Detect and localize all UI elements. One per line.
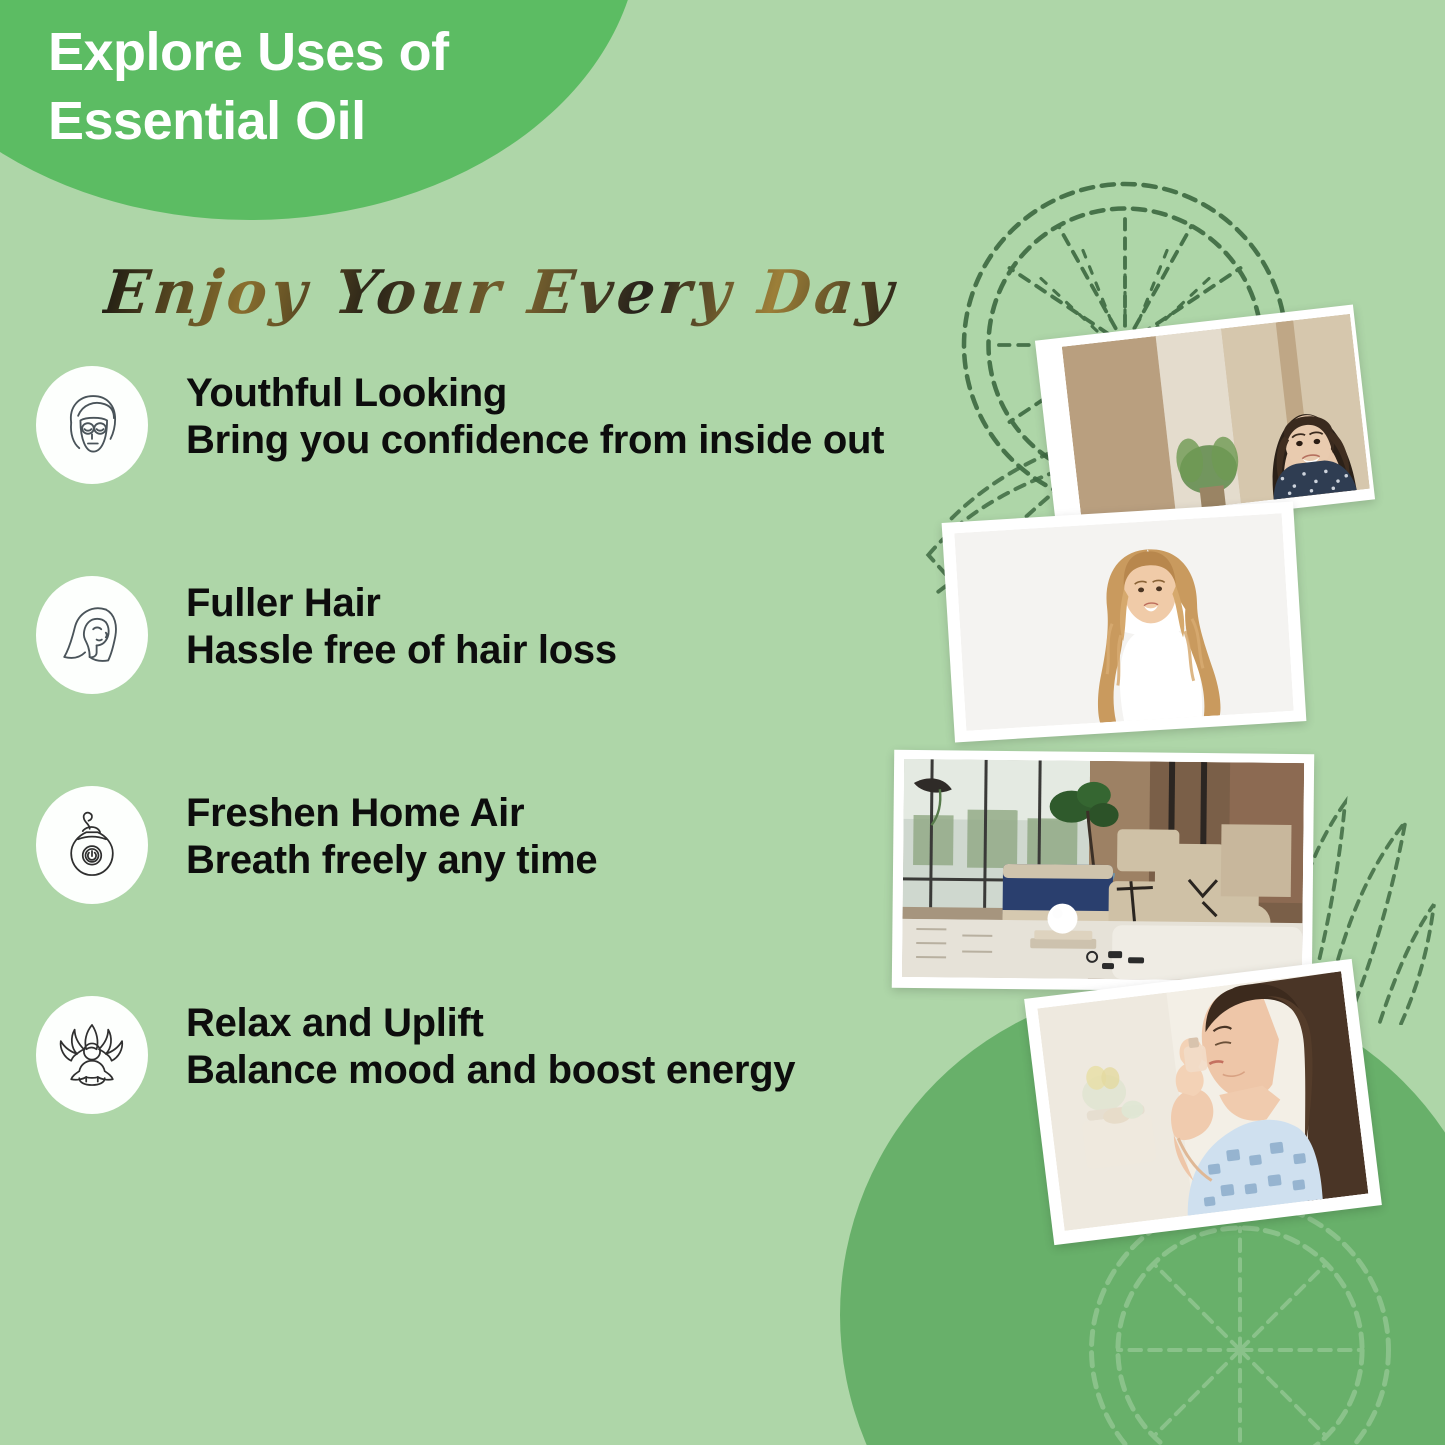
aroma-diffuser-icon [36,786,148,904]
feature-item-relax-and-uplift: Relax and Uplift Balance mood and boost … [0,988,1030,1198]
feature-list: Youthful Looking Bring you confidence fr… [0,358,1030,1198]
photo-woman-long-wavy-hair [942,501,1307,742]
feature-subtitle: Balance mood and boost energy [186,1047,795,1094]
feature-title: Freshen Home Air [186,790,597,837]
feature-text-block: Youthful Looking Bring you confidence fr… [186,370,884,464]
feature-subtitle: Breath freely any time [186,837,597,884]
feature-item-youthful-looking: Youthful Looking Bring you confidence fr… [0,358,1030,568]
face-mask-icon [36,366,148,484]
photo-boho-living-room-diffuser [892,750,1314,992]
feature-title: Youthful Looking [186,370,884,417]
feature-title: Relax and Uplift [186,1000,795,1047]
tagline: Enjoy Your Every Day [100,258,900,328]
long-hair-profile-icon [36,576,148,694]
feature-text-block: Fuller Hair Hassle free of hair loss [186,580,617,674]
feature-subtitle: Bring you confidence from inside out [186,417,884,464]
photo-image [954,513,1293,731]
page-title-line-1: Explore Uses of [48,18,648,87]
lotus-meditation-icon [36,996,148,1114]
feature-item-freshen-home-air: Freshen Home Air Breath freely any time [0,778,1030,988]
photo-woman-applying-fragrance [1024,959,1382,1245]
page-title: Explore Uses of Essential Oil [48,18,648,156]
feature-text-block: Relax and Uplift Balance mood and boost … [186,1000,795,1094]
feature-subtitle: Hassle free of hair loss [186,627,617,674]
feature-text-block: Freshen Home Air Breath freely any time [186,790,597,884]
photo-image [1062,314,1370,524]
feature-item-fuller-hair: Fuller Hair Hassle free of hair loss [0,568,1030,778]
page-title-line-2: Essential Oil [48,87,648,156]
photo-image [1037,971,1368,1231]
poster-canvas: Explore Uses of Essential Oil Enjoy Your… [0,0,1445,1445]
photo-image [902,759,1304,982]
feature-title: Fuller Hair [186,580,617,627]
photo-smiling-woman-indoors [1035,305,1375,536]
